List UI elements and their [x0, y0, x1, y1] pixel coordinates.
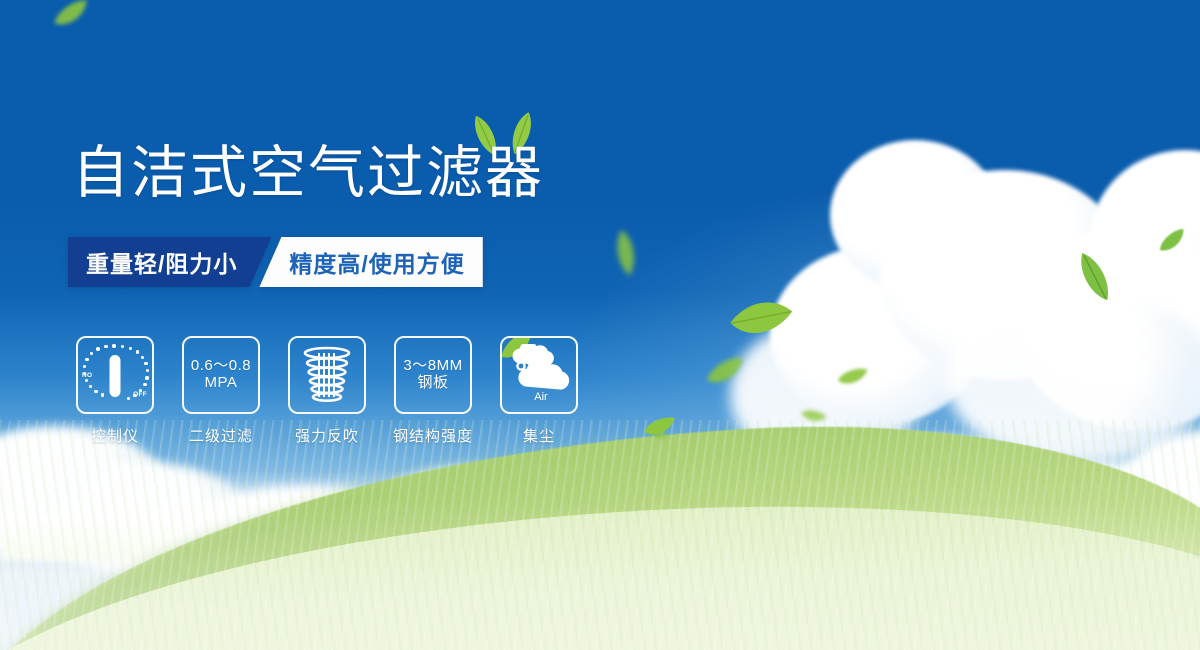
- grass-sheen: [0, 500, 1200, 650]
- steel-thickness: 3～8MM: [403, 357, 462, 374]
- feature-item-strong-backblow[interactable]: 强力反吹: [288, 336, 366, 446]
- feature-icon-box: 3～8MM 钢板: [394, 336, 472, 414]
- feature-label: 钢结构强度: [393, 425, 473, 446]
- feature-label: 控制仪: [91, 425, 139, 446]
- feature-label: 二级过滤: [189, 425, 253, 446]
- feature-item-two-stage-filter[interactable]: 0.6～0.8 MPA 二级过滤: [182, 336, 260, 446]
- feature-icon-box: NO OFF: [76, 336, 154, 414]
- feature-icon-box: 0.6～0.8 MPA: [182, 336, 260, 414]
- page-title: 自洁式空气过滤器: [72, 145, 544, 202]
- feature-item-steel-strength[interactable]: 3～8MM 钢板 钢结构强度: [394, 336, 472, 446]
- pressure-text-icon: 0.6～0.8 MPA: [191, 358, 251, 392]
- feature-list: NO OFF: [76, 336, 578, 446]
- air-label: Air: [534, 391, 548, 403]
- feature-label: 集尘: [523, 425, 555, 446]
- product-banner: 自洁式空气过滤器 重量轻/阻力小 精度高/使用方便 NO OFF: [0, 0, 1200, 650]
- feature-icon-box: Air: [500, 336, 578, 414]
- feature-icon-box: [288, 336, 366, 414]
- grass-field: [0, 420, 1200, 650]
- steel-text-icon: 3～8MM 钢板: [403, 358, 462, 392]
- feature-label: 强力反吹: [295, 425, 359, 446]
- gauge-needle: [110, 355, 121, 397]
- pressure-value: 0.6～0.8: [191, 357, 251, 374]
- cloud-air-icon: Air: [506, 344, 572, 406]
- steel-material: 钢板: [403, 375, 462, 392]
- feature-item-dust-collection[interactable]: Air 集尘: [500, 336, 578, 446]
- subtitle-bar: 重量轻/阻力小 精度高/使用方便: [68, 237, 483, 287]
- subtitle-left-panel: 重量轻/阻力小: [68, 237, 271, 287]
- filter-cartridge-icon: [297, 344, 357, 406]
- feature-item-controller[interactable]: NO OFF: [76, 336, 154, 446]
- pressure-unit: MPA: [191, 375, 251, 392]
- subtitle-right-panel: 精度高/使用方便: [259, 237, 482, 287]
- gauge-icon: NO OFF: [82, 342, 148, 408]
